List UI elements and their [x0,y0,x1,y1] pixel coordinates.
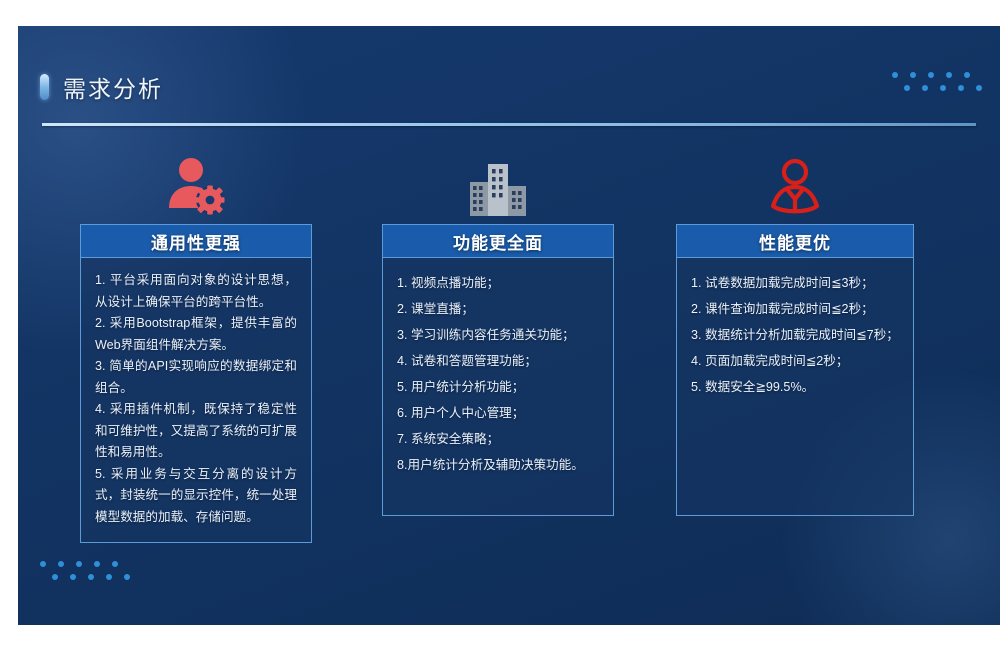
dot [940,85,946,91]
card-line: 4. 试卷和答题管理功能； [397,348,599,374]
dot-row [52,574,130,580]
person-outline-icon [676,150,914,216]
dot [976,85,982,91]
card-performance[interactable]: 性能更优 1. 试卷数据加载完成时间≦3秒； 2. 课件查询加载完成时间≦2秒；… [676,150,914,516]
card-line: 5. 采用业务与交互分离的设计方式，封装统一的显示控件，统一处理模型数据的加载、… [95,464,297,529]
page-title-text: 需求分析 [63,70,163,104]
page-title: 需求分析 [40,70,163,104]
card-line: 5. 数据安全≧99.5%。 [691,374,899,400]
dot [52,574,58,580]
dot [904,85,910,91]
dot [106,574,112,580]
card-line: 1. 视频点播功能； [397,270,599,296]
card-line: 7. 系统安全策略； [397,426,599,452]
dot [88,574,94,580]
dot [922,85,928,91]
card-line: 1. 平台采用面向对象的设计思想，从设计上确保平台的跨平台性。 [95,270,297,313]
dot [70,574,76,580]
dot-row [904,85,982,91]
card-line: 2. 采用Bootstrap框架，提供丰富的Web界面组件解决方案。 [95,313,297,356]
card-line: 3. 简单的API实现响应的数据绑定和组合。 [95,356,297,399]
card-line: 4. 页面加载完成时间≦2秒； [691,348,899,374]
card-line: 3. 数据统计分析加载完成时间≦7秒； [691,322,899,348]
card-line: 3. 学习训练内容任务通关功能； [397,322,599,348]
card-generality[interactable]: 通用性更强 1. 平台采用面向对象的设计思想，从设计上确保平台的跨平台性。 2.… [80,150,312,543]
slide-canvas: 需求分析 [18,26,1000,625]
dot [928,72,934,78]
decorative-dot-grid-bottom-left [40,561,130,580]
card-line: 8.用户统计分析及辅助决策功能。 [397,452,599,478]
dot [76,561,82,567]
card-header-generality: 通用性更强 [80,224,312,258]
decorative-dot-grid-top-right [892,72,982,91]
dot [112,561,118,567]
dot [958,85,964,91]
dot-row [892,72,982,78]
card-line: 4. 采用插件机制，既保持了稳定性和可维护性，又提高了系统的可扩展性和易用性。 [95,399,297,464]
dot [40,561,46,567]
title-divider [42,123,976,126]
card-line: 1. 试卷数据加载完成时间≦3秒； [691,270,899,296]
card-body-generality: 1. 平台采用面向对象的设计思想，从设计上确保平台的跨平台性。 2. 采用Boo… [80,258,312,543]
card-body-functionality: 1. 视频点播功能； 2. 课堂直播； 3. 学习训练内容任务通关功能； 4. … [382,258,614,516]
dot [124,574,130,580]
dot [910,72,916,78]
user-settings-icon [80,150,312,216]
card-header-performance: 性能更优 [676,224,914,258]
slide-header: 需求分析 [18,26,1000,122]
cards-container: 通用性更强 1. 平台采用面向对象的设计思想，从设计上确保平台的跨平台性。 2.… [18,150,1000,550]
dot-row [40,561,130,567]
buildings-icon [382,150,614,216]
card-header-functionality: 功能更全面 [382,224,614,258]
dot [964,72,970,78]
card-body-performance: 1. 试卷数据加载完成时间≦3秒； 2. 课件查询加载完成时间≦2秒； 3. 数… [676,258,914,516]
dot [892,72,898,78]
dot [94,561,100,567]
card-functionality[interactable]: 功能更全面 1. 视频点播功能； 2. 课堂直播； 3. 学习训练内容任务通关功… [382,150,614,516]
card-line: 2. 课件查询加载完成时间≦2秒； [691,296,899,322]
card-line: 2. 课堂直播； [397,296,599,322]
dot [946,72,952,78]
card-line: 6. 用户个人中心管理； [397,400,599,426]
card-line: 5. 用户统计分析功能； [397,374,599,400]
title-pill-icon [40,74,49,100]
dot [58,561,64,567]
